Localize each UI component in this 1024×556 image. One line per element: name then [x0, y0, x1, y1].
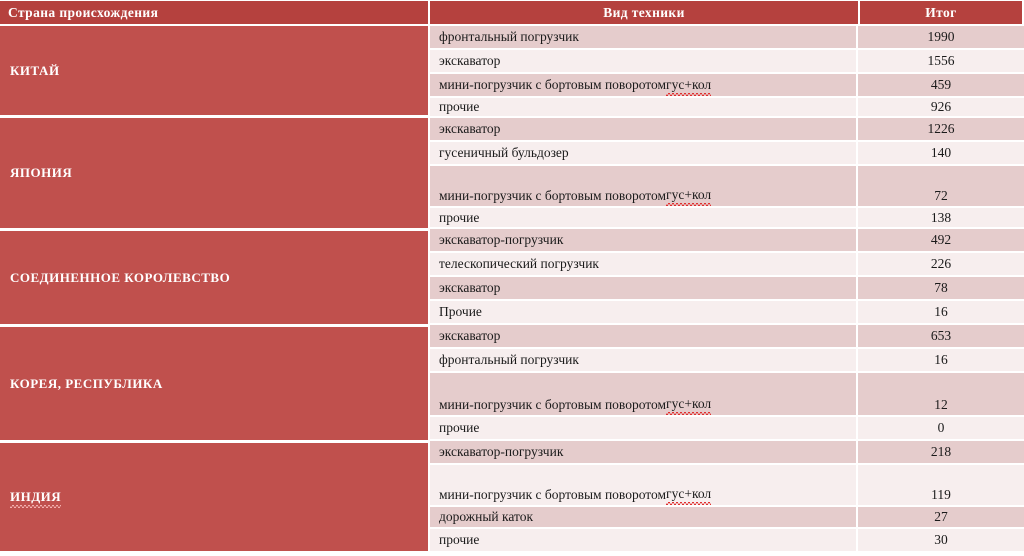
table-row[interactable]: прочие0: [430, 417, 1024, 441]
total-value-cell[interactable]: 78: [858, 277, 1024, 299]
equipment-type-cell[interactable]: мини-погрузчик с бортовым поворотом гус+…: [430, 166, 856, 206]
data-rows-column: фронтальный погрузчик1990экскаватор1556м…: [430, 26, 1024, 556]
equipment-type-text: дорожный каток: [439, 509, 533, 525]
equipment-type-cell[interactable]: фронтальный погрузчик: [430, 349, 856, 371]
country-label: КИТАЙ: [10, 63, 60, 79]
table-row[interactable]: прочие30: [430, 529, 1024, 551]
table-row[interactable]: прочие926: [430, 98, 1024, 118]
total-value-cell[interactable]: 72: [858, 166, 1024, 206]
country-cell[interactable]: ИНДИЯ: [0, 443, 428, 551]
equipment-type-cell[interactable]: дорожный каток: [430, 507, 856, 527]
country-label: ИНДИЯ: [10, 489, 61, 506]
total-value-cell[interactable]: 119: [858, 465, 1024, 505]
table-row[interactable]: гусеничный бульдозер140: [430, 142, 1024, 166]
equipment-type-text: прочие: [439, 99, 479, 115]
equipment-type-cell[interactable]: экскаватор-погрузчик: [430, 441, 856, 463]
table-row[interactable]: экскаватор1556: [430, 50, 1024, 74]
equipment-type-text: фронтальный погрузчик: [439, 352, 579, 368]
column-header-country[interactable]: Страна происхождения: [0, 1, 428, 24]
equipment-type-text: мини-погрузчик с бортовым поворотом: [439, 397, 666, 413]
equipment-type-text: мини-погрузчик с бортовым поворотом: [439, 188, 666, 204]
total-value-cell[interactable]: 12: [858, 373, 1024, 415]
equipment-type-cell[interactable]: экскаватор: [430, 325, 856, 347]
equipment-type-text: телескопический погрузчик: [439, 256, 599, 272]
equipment-type-cell[interactable]: прочие: [430, 529, 856, 551]
total-value-cell[interactable]: 459: [858, 74, 1024, 96]
equipment-type-text: экскаватор-погрузчик: [439, 444, 563, 460]
table-row[interactable]: экскаватор1226: [430, 118, 1024, 142]
table-header-row: Страна происхождения Вид техники Итог: [0, 0, 1024, 26]
table-row[interactable]: мини-погрузчик с бортовым поворотом гус+…: [430, 74, 1024, 98]
spreadsheet-table: Страна происхождения Вид техники Итог КИ…: [0, 0, 1024, 556]
equipment-type-text: экскаватор: [439, 121, 500, 137]
equipment-type-text: прочие: [439, 210, 479, 226]
total-value-cell[interactable]: 16: [858, 301, 1024, 323]
equipment-type-text: экскаватор: [439, 280, 500, 296]
equipment-type-text: мини-погрузчик с бортовым поворотом: [439, 77, 666, 93]
country-label: ЯПОНИЯ: [10, 165, 72, 181]
total-value-cell[interactable]: 226: [858, 253, 1024, 275]
total-value-cell[interactable]: 1226: [858, 118, 1024, 140]
total-value-cell[interactable]: 0: [858, 417, 1024, 439]
table-row[interactable]: телескопический погрузчик226: [430, 253, 1024, 277]
equipment-type-text: мини-погрузчик с бортовым поворотом: [439, 487, 666, 503]
country-label: КОРЕЯ, РЕСПУБЛИКА: [10, 376, 163, 392]
table-body: КИТАЙЯПОНИЯСОЕДИНЕННОЕ КОРОЛЕВСТВОКОРЕЯ,…: [0, 26, 1024, 556]
table-row[interactable]: экскаватор-погрузчик492: [430, 229, 1024, 253]
total-value-cell[interactable]: 1556: [858, 50, 1024, 72]
table-row[interactable]: дорожный каток27: [430, 507, 1024, 529]
equipment-type-cell[interactable]: экскаватор: [430, 118, 856, 140]
equipment-type-cell[interactable]: прочие: [430, 208, 856, 227]
equipment-type-text: экскаватор-погрузчик: [439, 232, 563, 248]
table-row[interactable]: фронтальный погрузчик1990: [430, 26, 1024, 50]
total-value-cell[interactable]: 653: [858, 325, 1024, 347]
country-cell[interactable]: ЯПОНИЯ: [0, 118, 428, 231]
table-row[interactable]: мини-погрузчик с бортовым поворотом гус+…: [430, 465, 1024, 507]
misspelled-term: гус+кол: [666, 486, 711, 503]
table-row[interactable]: мини-погрузчик с бортовым поворотом гус+…: [430, 373, 1024, 417]
table-row[interactable]: мини-погрузчик с бортовым поворотом гус+…: [430, 166, 1024, 208]
country-cell[interactable]: КОРЕЯ, РЕСПУБЛИКА: [0, 327, 428, 443]
equipment-type-text: фронтальный погрузчик: [439, 29, 579, 45]
misspelled-term: гус+кол: [666, 187, 711, 204]
equipment-type-cell[interactable]: Прочие: [430, 301, 856, 323]
country-column: КИТАЙЯПОНИЯСОЕДИНЕННОЕ КОРОЛЕВСТВОКОРЕЯ,…: [0, 26, 428, 556]
equipment-type-cell[interactable]: экскаватор: [430, 50, 856, 72]
equipment-type-cell[interactable]: фронтальный погрузчик: [430, 26, 856, 48]
total-value-cell[interactable]: 1990: [858, 26, 1024, 48]
equipment-type-text: прочие: [439, 532, 479, 548]
table-row[interactable]: Прочие16: [430, 301, 1024, 325]
misspelled-term: гус+кол: [666, 396, 711, 413]
total-value-cell[interactable]: 140: [858, 142, 1024, 164]
equipment-type-text: прочие: [439, 420, 479, 436]
equipment-type-cell[interactable]: мини-погрузчик с бортовым поворотом гус+…: [430, 74, 856, 96]
equipment-type-cell[interactable]: телескопический погрузчик: [430, 253, 856, 275]
country-label: СОЕДИНЕННОЕ КОРОЛЕВСТВО: [10, 270, 230, 286]
equipment-type-text: Прочие: [439, 304, 482, 320]
country-cell[interactable]: КИТАЙ: [0, 26, 428, 118]
equipment-type-cell[interactable]: прочие: [430, 98, 856, 116]
misspelled-term: гус+кол: [666, 77, 711, 94]
equipment-type-cell[interactable]: мини-погрузчик с бортовым поворотом гус+…: [430, 465, 856, 505]
equipment-type-cell[interactable]: экскаватор: [430, 277, 856, 299]
total-value-cell[interactable]: 138: [858, 208, 1024, 227]
column-header-total[interactable]: Итог: [860, 1, 1022, 24]
table-row[interactable]: прочие138: [430, 208, 1024, 229]
table-row[interactable]: экскаватор-погрузчик218: [430, 441, 1024, 465]
total-value-cell[interactable]: 492: [858, 229, 1024, 251]
table-row[interactable]: фронтальный погрузчик16: [430, 349, 1024, 373]
equipment-type-text: экскаватор: [439, 328, 500, 344]
total-value-cell[interactable]: 27: [858, 507, 1024, 527]
country-cell[interactable]: СОЕДИНЕННОЕ КОРОЛЕВСТВО: [0, 231, 428, 327]
total-value-cell[interactable]: 218: [858, 441, 1024, 463]
equipment-type-cell[interactable]: гусеничный бульдозер: [430, 142, 856, 164]
table-row[interactable]: экскаватор78: [430, 277, 1024, 301]
equipment-type-cell[interactable]: мини-погрузчик с бортовым поворотом гус+…: [430, 373, 856, 415]
total-value-cell[interactable]: 16: [858, 349, 1024, 371]
column-header-type[interactable]: Вид техники: [430, 1, 858, 24]
equipment-type-text: гусеничный бульдозер: [439, 145, 569, 161]
total-value-cell[interactable]: 30: [858, 529, 1024, 551]
table-row[interactable]: экскаватор653: [430, 325, 1024, 349]
total-value-cell[interactable]: 926: [858, 98, 1024, 116]
equipment-type-text: экскаватор: [439, 53, 500, 69]
equipment-type-cell[interactable]: экскаватор-погрузчик: [430, 229, 856, 251]
equipment-type-cell[interactable]: прочие: [430, 417, 856, 439]
